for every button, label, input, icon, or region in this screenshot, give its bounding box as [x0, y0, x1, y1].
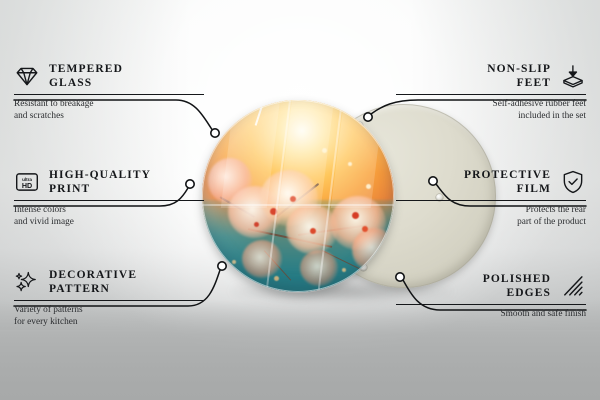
feature-decorative-pattern[interactable]: DECORATIVE PATTERN Variety of patterns f… [14, 268, 204, 328]
feature-description: Smooth and safe finish [396, 309, 586, 321]
feature-protective-film[interactable]: PROTECTIVE FILM Protects the rear part o… [396, 168, 586, 228]
feature-rule [396, 200, 586, 201]
feature-tempered-glass[interactable]: TEMPERED GLASS Resistant to breakage and… [14, 62, 204, 122]
feature-rule [14, 200, 204, 201]
press-down-foot-icon [560, 63, 586, 89]
feature-heading: NON-SLIP FEET [396, 62, 586, 90]
feature-description: Self-adhesive rubber feet included in th… [396, 99, 586, 122]
feature-heading: ultra HD HIGH-QUALITY PRINT [14, 168, 204, 196]
feature-heading: TEMPERED GLASS [14, 62, 204, 90]
feature-title: NON-SLIP FEET [487, 62, 551, 90]
diagonal-lines-icon [560, 273, 586, 299]
diamond-icon [14, 63, 40, 89]
feature-title: DECORATIVE PATTERN [49, 268, 137, 296]
feature-heading: POLISHED EDGES [396, 272, 586, 300]
shield-check-icon [560, 169, 586, 195]
feature-heading: DECORATIVE PATTERN [14, 268, 204, 296]
feature-polished-edges[interactable]: POLISHED EDGES Smooth and safe finish [396, 272, 586, 321]
feature-rule [396, 304, 586, 305]
feature-description: Variety of patterns for every kitchen [14, 305, 204, 328]
feature-title: POLISHED EDGES [483, 272, 551, 300]
ultra-hd-icon: ultra HD [14, 169, 40, 195]
disc-front-rim [202, 100, 394, 292]
infographic-canvas: TEMPERED GLASS Resistant to breakage and… [0, 0, 600, 400]
svg-text:HD: HD [22, 182, 32, 190]
feature-non-slip-feet[interactable]: NON-SLIP FEET Self-adhesive rubber feet … [396, 62, 586, 122]
feature-title: HIGH-QUALITY PRINT [49, 168, 151, 196]
feature-title: TEMPERED GLASS [49, 62, 123, 90]
disc-front [202, 100, 394, 292]
feature-description: Intense colors and vivid image [14, 205, 204, 228]
feature-rule [396, 94, 586, 95]
feature-heading: PROTECTIVE FILM [396, 168, 586, 196]
feature-high-quality-print[interactable]: ultra HD HIGH-QUALITY PRINT Intense colo… [14, 168, 204, 228]
feature-rule [14, 94, 204, 95]
feature-description: Protects the rear part of the product [396, 205, 586, 228]
feature-description: Resistant to breakage and scratches [14, 99, 204, 122]
feature-rule [14, 300, 204, 301]
sparkles-icon [14, 269, 40, 295]
feature-title: PROTECTIVE FILM [464, 168, 551, 196]
